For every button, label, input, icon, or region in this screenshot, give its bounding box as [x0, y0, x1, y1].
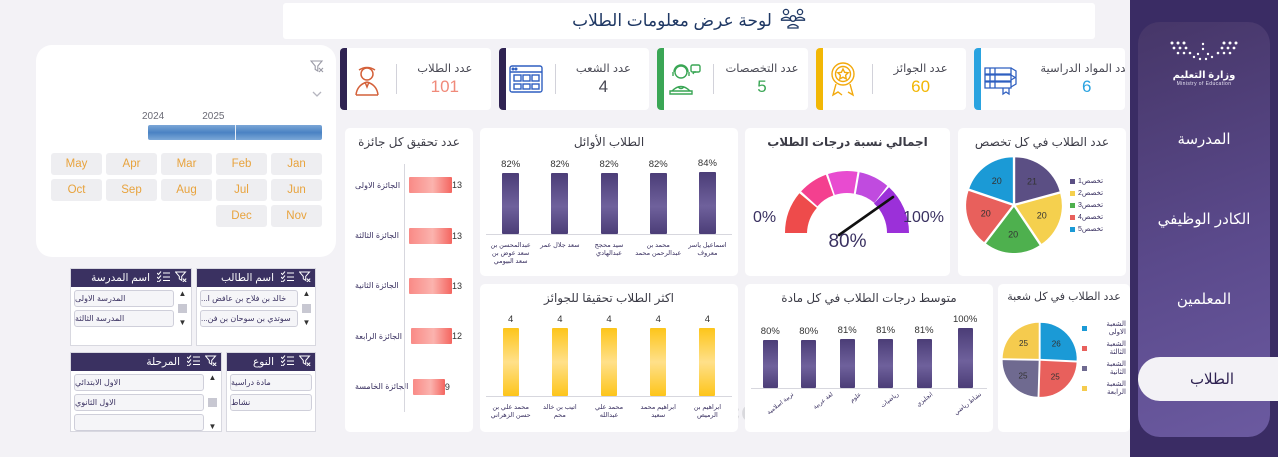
- chart-title: متوسط درجات الطلاب في كل مادة: [745, 284, 993, 305]
- chart-students-per-section: عدد الطلاب في كل شعبة 26252525 الشعبة ال…: [998, 284, 1130, 432]
- scroll-down-icon[interactable]: ▼: [209, 423, 217, 431]
- horizontal-bar-plot: الجائزة الاولى13الجائزة الثالثة13الجائزة…: [351, 160, 467, 424]
- gauge-max-label: 100%: [903, 209, 944, 227]
- bar-row[interactable]: الجائزة الاولى13: [351, 160, 467, 210]
- axis-line: [404, 164, 405, 412]
- slicer-option[interactable]: مادة دراسية: [230, 374, 312, 391]
- kpi-divider: [872, 64, 873, 94]
- bars-area: 80%80%81%81%81%100%: [751, 308, 987, 388]
- chart-most-awarded-students: اكثر الطلاب تحقيقا للجوائز 44444محمد علي…: [480, 284, 738, 432]
- month-button-apr[interactable]: Apr: [106, 153, 157, 175]
- bar-category-label: سيد محجج عبدالهادي: [586, 242, 632, 266]
- bar-column[interactable]: 81%: [876, 325, 895, 388]
- multi-select-icon[interactable]: [187, 355, 200, 369]
- slicer-option[interactable]: الاول الثانوي: [74, 394, 204, 411]
- bars-area: 82%82%82%82%84%: [486, 152, 732, 234]
- legend-swatch: [1070, 227, 1075, 232]
- kpi-accent-bar: [340, 48, 347, 110]
- kpi-label: عدد الطلاب: [407, 61, 483, 75]
- legend-swatch: [1070, 179, 1075, 184]
- slicer-option[interactable]: المدرسة الثالثة: [74, 310, 174, 327]
- kpi-accent-bar: [816, 48, 823, 110]
- chart-awards-achieved: عدد تحقيق كل جائزة الجائزة الاولى13الجائ…: [345, 128, 473, 432]
- month-button-sep[interactable]: Sep: [106, 179, 157, 201]
- chart-title: اكثر الطلاب تحقيقا للجوائز: [480, 284, 738, 305]
- bar-value-label: 81%: [915, 325, 934, 336]
- bar[interactable]: [801, 340, 816, 388]
- bar[interactable]: [409, 177, 452, 193]
- month-button-nov[interactable]: Nov: [271, 205, 322, 227]
- month-button-may[interactable]: May: [51, 153, 102, 175]
- legend-item[interactable]: الشعبة الاولى: [1082, 320, 1126, 336]
- month-button-jan[interactable]: Jan: [271, 153, 322, 175]
- pie-legend: تخصص1تخصص2تخصص3تخصص4تخصص5: [1070, 177, 1103, 233]
- bar-value-label: 4: [656, 314, 661, 325]
- axis-line: [486, 396, 732, 397]
- kpi-card-subjects: عدد المواد الدراسية 6: [974, 48, 1125, 110]
- classes-grid-icon: [503, 57, 549, 101]
- category-labels: عبدالمحسن بن سعد عوض بن سعد البيوميسعد ج…: [486, 238, 732, 266]
- bar[interactable]: [411, 328, 452, 344]
- year-range-slider[interactable]: 2024 2025: [142, 111, 322, 140]
- bars-area: 44444: [486, 308, 732, 396]
- clear-filter-icon[interactable]: [175, 271, 187, 285]
- scroll-thumb[interactable]: [302, 304, 311, 313]
- chart-average-per-subject: متوسط درجات الطلاب في كل مادة 80%80%81%8…: [745, 284, 993, 432]
- bar[interactable]: [552, 328, 568, 396]
- slider-track[interactable]: [148, 125, 322, 140]
- slicer-option[interactable]: سوتدي بن سوحان بن فن...: [200, 310, 298, 327]
- bar-category-label: الجائزة الثانية: [351, 281, 409, 290]
- bar[interactable]: [699, 172, 716, 234]
- bar-column[interactable]: 82%: [600, 159, 619, 234]
- chart-overall-grade-gauge: اجمالي نسبة درجات الطلاب 0% 100% 80%: [745, 128, 950, 276]
- vertical-bar-plot: 80%80%81%81%81%100%تربية اسلاميةلغة عربي…: [751, 308, 987, 428]
- month-button-dec[interactable]: Dec: [216, 205, 267, 227]
- bar[interactable]: [958, 328, 973, 388]
- legend-item[interactable]: تخصص5: [1070, 225, 1103, 233]
- legend-label: تخصص2: [1078, 189, 1103, 197]
- slicer-scrollbar[interactable]: ▲ ▼: [207, 374, 218, 431]
- scroll-thumb[interactable]: [178, 304, 187, 313]
- slicer-option[interactable]: نشاط: [230, 394, 312, 411]
- legend-swatch: [1082, 326, 1087, 331]
- slicer-title: المرحلة: [75, 356, 182, 368]
- chart-title: عدد الطلاب في كل تخصص: [958, 128, 1126, 149]
- legend-item[interactable]: تخصص2: [1070, 189, 1103, 197]
- logo-dots-icon: [1168, 40, 1240, 62]
- bar-category-label: ابراهيم محمد سعيد: [635, 404, 681, 420]
- bar-category-label: اسماعيل ياسر معروف: [684, 242, 730, 266]
- pie-legend: الشعبة الاولىالشعبة الثالثةالشعبة الثاني…: [1082, 320, 1126, 396]
- support-agent-icon: [661, 57, 707, 101]
- chart-title: اجمالي نسبة درجات الطلاب: [745, 128, 950, 149]
- bar[interactable]: [409, 278, 452, 294]
- gauge-value-label: 80%: [745, 231, 950, 253]
- bar-value-label: 4: [508, 314, 513, 325]
- chart-title: عدد الطلاب في كل شعبة: [998, 284, 1130, 304]
- bar-value-label: 82%: [501, 159, 520, 170]
- month-button-jun[interactable]: Jun: [271, 179, 322, 201]
- kpi-value: 4: [566, 77, 642, 97]
- bar[interactable]: [917, 339, 932, 388]
- legend-swatch: [1082, 366, 1087, 371]
- sidebar-item-students[interactable]: الطلاب: [1138, 357, 1278, 401]
- bar[interactable]: [650, 173, 667, 234]
- bar-category-label: محمد علي عبدالله: [586, 404, 632, 420]
- month-button-jul[interactable]: Jul: [216, 179, 267, 201]
- pie-plot: 2120202020: [962, 153, 1066, 257]
- slicer-title: اسم الطالب: [201, 272, 276, 284]
- kpi-card-students: عدد الطلاب 101: [340, 48, 491, 110]
- page-title: لوحة عرض معلومات الطلاب: [572, 11, 772, 31]
- sidebar-item-staff[interactable]: الكادر الوظيفي: [1138, 197, 1270, 241]
- pie-slice-value: 20: [992, 176, 1002, 186]
- bar-category-label: عبدالمحسن بن سعد عوض بن سعد البيومي: [488, 242, 534, 266]
- bar-row[interactable]: الجائزة الثانية13: [351, 261, 467, 311]
- bar[interactable]: [878, 339, 893, 388]
- legend-label: تخصص3: [1078, 201, 1103, 209]
- month-button-oct[interactable]: Oct: [51, 179, 102, 201]
- pie-slice-value: 25: [1019, 339, 1029, 348]
- legend-item[interactable]: الشعبة الثانية: [1082, 360, 1126, 376]
- bar-value-label: 13: [452, 281, 462, 291]
- bar[interactable]: [650, 328, 666, 396]
- bar-column[interactable]: 82%: [649, 159, 668, 234]
- legend-label: الشعبة الثالثة: [1090, 340, 1126, 356]
- bar-value-label: 4: [705, 314, 710, 325]
- scroll-up-icon[interactable]: ▲: [303, 290, 311, 298]
- bar-column[interactable]: 80%: [799, 326, 818, 388]
- pie-slice-value: 25: [1019, 372, 1029, 381]
- bar-row[interactable]: الجائزة الرابعة12: [351, 311, 467, 361]
- bar-category-label: الجائزة الاولى: [351, 181, 409, 190]
- bar-category-label: علوم: [849, 391, 885, 432]
- bar-category-label: الجائزة الرابعة: [351, 332, 411, 341]
- bar[interactable]: [601, 173, 618, 234]
- kpi-accent-bar: [657, 48, 664, 110]
- logo-subtitle: Ministry of Education: [1154, 81, 1254, 87]
- multi-select-icon[interactable]: [157, 271, 170, 285]
- kpi-accent-bar: [499, 48, 506, 110]
- bar-value-label: 100%: [953, 314, 977, 325]
- bar-category-label: انجليزي: [915, 391, 956, 436]
- kpi-value: 6: [1040, 77, 1125, 97]
- pie-slice-value: 20: [1008, 230, 1018, 240]
- kpi-card-majors: عدد التخصصات 5: [657, 48, 808, 110]
- group-people-icon: [780, 7, 806, 36]
- slicer-stage: المرحلة الاول الابتدائي الاول الثانوي ▲ …: [70, 352, 222, 432]
- books-icon: [978, 57, 1024, 101]
- kpi-card-awards: عدد الجوائز 60: [816, 48, 967, 110]
- bar-value-label: 82%: [649, 159, 668, 170]
- chart-title: الطلاب الأوائل: [480, 128, 738, 149]
- legend-swatch: [1070, 191, 1075, 196]
- bar-value-label: 13: [452, 180, 462, 190]
- bar-value-label: 81%: [876, 325, 895, 336]
- bar-category-label: محمد بن عبدالرحمن محمد: [635, 242, 681, 266]
- slicer-scrollbar[interactable]: ▲ ▼: [177, 290, 188, 327]
- bar-column[interactable]: 82%: [550, 159, 569, 234]
- kpi-label: عدد الشعب: [566, 61, 642, 75]
- scroll-down-icon[interactable]: ▼: [179, 319, 187, 327]
- month-button-feb[interactable]: Feb: [216, 153, 267, 175]
- bar-row[interactable]: الجائزة الخامسة9: [351, 362, 467, 412]
- legend-item[interactable]: تخصص3: [1070, 201, 1103, 209]
- bar-category-label: سعد جلال عمر: [537, 242, 583, 266]
- slicer-option[interactable]: المدرسة الاولى: [74, 290, 174, 307]
- month-button-aug[interactable]: Aug: [161, 179, 212, 201]
- sidebar-item-teachers[interactable]: المعلمين: [1138, 277, 1270, 321]
- bar[interactable]: [413, 379, 445, 395]
- pie-slice-value: 26: [1052, 340, 1062, 349]
- multi-select-icon[interactable]: [281, 355, 294, 369]
- bar-column[interactable]: 81%: [838, 325, 857, 388]
- kpi-value: 60: [883, 77, 959, 97]
- vertical-bar-plot: 44444محمد علي بن حسن الزهرانياتيب بن خال…: [486, 308, 732, 428]
- page-header: لوحة عرض معلومات الطلاب: [283, 3, 1095, 39]
- axis-line: [486, 234, 732, 235]
- bar-column[interactable]: 4: [699, 314, 715, 396]
- multi-select-icon[interactable]: [281, 271, 294, 285]
- bar[interactable]: [503, 328, 519, 396]
- bar-column[interactable]: 84%: [698, 158, 717, 234]
- legend-swatch: [1070, 203, 1075, 208]
- chart-title: عدد تحقيق كل جائزة: [345, 128, 473, 149]
- slicer-scrollbar[interactable]: ▲ ▼: [301, 290, 312, 327]
- kpi-value: 101: [407, 77, 483, 97]
- legend-label: تخصص5: [1078, 225, 1103, 233]
- category-labels: تربية اسلاميةلغة عربيةعلومرياضياتانجليزي…: [751, 389, 987, 433]
- slicer-student-name: اسم الطالب خالد بن فلاح بن عافض ا... سوت…: [196, 268, 316, 346]
- bar[interactable]: [840, 339, 855, 388]
- bar-column[interactable]: 100%: [953, 314, 977, 388]
- kpi-label: عدد المواد الدراسية: [1040, 61, 1125, 75]
- bar-column[interactable]: 82%: [501, 159, 520, 234]
- pie-plot: 26252525: [1000, 306, 1079, 410]
- bar-value-label: 9: [445, 382, 450, 392]
- bar-column[interactable]: 4: [503, 314, 519, 396]
- slicer-option[interactable]: خالد بن فلاح بن عافض ا...: [200, 290, 298, 307]
- sidebar-item-label: المدرسة: [1177, 130, 1230, 148]
- year-label-start: 2024: [142, 111, 164, 122]
- award-medal-icon: [820, 57, 866, 101]
- kpi-value: 5: [724, 77, 800, 97]
- kpi-label: عدد الجوائز: [883, 61, 959, 75]
- kpi-accent-bar: [974, 48, 981, 110]
- kpi-divider: [396, 64, 397, 94]
- year-label-end: 2025: [202, 111, 224, 122]
- student-icon: [344, 57, 390, 101]
- kpi-divider: [713, 64, 714, 94]
- chart-students-per-major: عدد الطلاب في كل تخصص 2120202020 تخصص1تخ…: [958, 128, 1126, 276]
- bar[interactable]: [409, 228, 452, 244]
- bar-column[interactable]: 80%: [761, 326, 780, 388]
- gauge-min-label: 0%: [753, 209, 776, 227]
- legend-item[interactable]: تخصص1: [1070, 177, 1103, 185]
- bar[interactable]: [551, 173, 568, 234]
- legend-item[interactable]: تخصص4: [1070, 213, 1103, 221]
- kpi-divider: [555, 64, 556, 94]
- bar-category-label: الجائزة الثالثة: [351, 231, 409, 240]
- dashboard-root: mostaql.com لوحة عرض معلومات الطلاب: [0, 0, 1278, 457]
- slicer-option[interactable]: [74, 414, 204, 431]
- bar-category-label: محمد علي بن حسن الزهراني: [488, 404, 534, 420]
- bar-value-label: 4: [606, 314, 611, 325]
- kpi-row: عدد الطلاب 101 عدد الشعب 4: [340, 48, 1125, 110]
- slicer-title: النوع: [231, 356, 276, 368]
- legend-item[interactable]: الشعبة الثالثة: [1082, 340, 1126, 356]
- kpi-label: عدد التخصصات: [724, 61, 800, 75]
- bar-category-label: رياضيات: [879, 391, 921, 437]
- clear-filter-icon[interactable]: [299, 355, 311, 369]
- bar-value-label: 13: [452, 231, 462, 241]
- kpi-card-sections: عدد الشعب 4: [499, 48, 650, 110]
- slicer-type: النوع مادة دراسية نشاط: [226, 352, 316, 432]
- legend-label: تخصص4: [1078, 213, 1103, 221]
- bar-value-label: 12: [452, 331, 462, 341]
- bar-value-label: 84%: [698, 158, 717, 169]
- bar-category-label: ابراهيم بن الرميص: [684, 404, 730, 420]
- slicer-school-name: اسم المدرسة المدرسة الاولى المدرسة الثال…: [70, 268, 192, 346]
- ministry-logo: وزارة التعليم Ministry of Education: [1154, 40, 1254, 87]
- bar-column[interactable]: 81%: [915, 325, 934, 388]
- bar-category-label: اتيب بن خالد محم: [537, 404, 583, 420]
- bar[interactable]: [699, 328, 715, 396]
- scroll-up-icon[interactable]: ▲: [179, 290, 187, 298]
- bar-row[interactable]: الجائزة الثالثة13: [351, 210, 467, 260]
- slicer-option[interactable]: الاول الابتدائي: [74, 374, 204, 391]
- bar[interactable]: [601, 328, 617, 396]
- clear-filter-icon[interactable]: [205, 355, 217, 369]
- gauge-plot: 0% 100% 80%: [745, 149, 950, 261]
- bar[interactable]: [763, 340, 778, 388]
- scroll-down-icon[interactable]: ▼: [303, 319, 311, 327]
- sidebar-item-label: الكادر الوظيفي: [1158, 210, 1251, 228]
- clear-filter-icon[interactable]: [299, 271, 311, 285]
- chart-top-students: الطلاب الأوائل 82%82%82%82%84%عبدالمحسن …: [480, 128, 738, 276]
- month-buttons-grid: JanFebMarAprMayJunJulAugSepOctNovDec: [50, 153, 322, 227]
- slicer-title: اسم المدرسة: [75, 272, 152, 284]
- sidebar-item-label: المعلمين: [1177, 290, 1231, 308]
- month-button-mar[interactable]: Mar: [161, 153, 212, 175]
- bar-column[interactable]: 4: [601, 314, 617, 396]
- sidebar-nav: المدرسة الكادر الوظيفي المعلمين الطلاب: [1138, 117, 1270, 401]
- legend-label: الشعبة الثانية: [1090, 360, 1126, 376]
- bar-value-label: 82%: [550, 159, 569, 170]
- bar[interactable]: [502, 173, 519, 234]
- sidebar: وزارة التعليم Ministry of Education المد…: [1130, 0, 1278, 457]
- vertical-bar-plot: 82%82%82%82%84%عبدالمحسن بن سعد عوض بن س…: [486, 152, 732, 272]
- legend-label: الشعبة الرابعة: [1090, 380, 1126, 396]
- legend-item[interactable]: الشعبة الرابعة: [1082, 380, 1126, 396]
- legend-swatch: [1082, 346, 1087, 351]
- bar-column[interactable]: 4: [552, 314, 568, 396]
- bar-value-label: 82%: [600, 159, 619, 170]
- pie-slice-value: 21: [1027, 177, 1037, 187]
- bar-value-label: 81%: [838, 325, 857, 336]
- category-labels: محمد علي بن حسن الزهرانياتيب بن خالد محم…: [486, 400, 732, 420]
- clear-filter-icon[interactable]: [310, 59, 324, 78]
- sidebar-item-label: الطلاب: [1190, 370, 1234, 388]
- legend-label: الشعبة الاولى: [1090, 320, 1126, 336]
- date-filter-panel: 2024 2025 JanFebMarAprMayJunJulAugSepOct…: [36, 45, 336, 257]
- bar-value-label: 4: [557, 314, 562, 325]
- dropdown-caret-icon[interactable]: [312, 85, 322, 103]
- bar-column[interactable]: 4: [650, 314, 666, 396]
- logo-title: وزارة التعليم: [1154, 70, 1254, 81]
- legend-swatch: [1082, 386, 1086, 391]
- pie-slice-value: 20: [981, 209, 991, 219]
- bar-value-label: 80%: [799, 326, 818, 337]
- legend-swatch: [1070, 215, 1075, 220]
- scroll-thumb[interactable]: [208, 398, 217, 407]
- sidebar-item-school[interactable]: المدرسة: [1138, 117, 1270, 161]
- bar-value-label: 80%: [761, 326, 780, 337]
- legend-label: تخصص1: [1078, 177, 1103, 185]
- pie-slice-value: 20: [1037, 211, 1047, 221]
- pie-slice-value: 25: [1051, 373, 1061, 382]
- scroll-up-icon[interactable]: ▲: [209, 374, 217, 382]
- bar-category-label: تربية اسلامية: [766, 391, 817, 444]
